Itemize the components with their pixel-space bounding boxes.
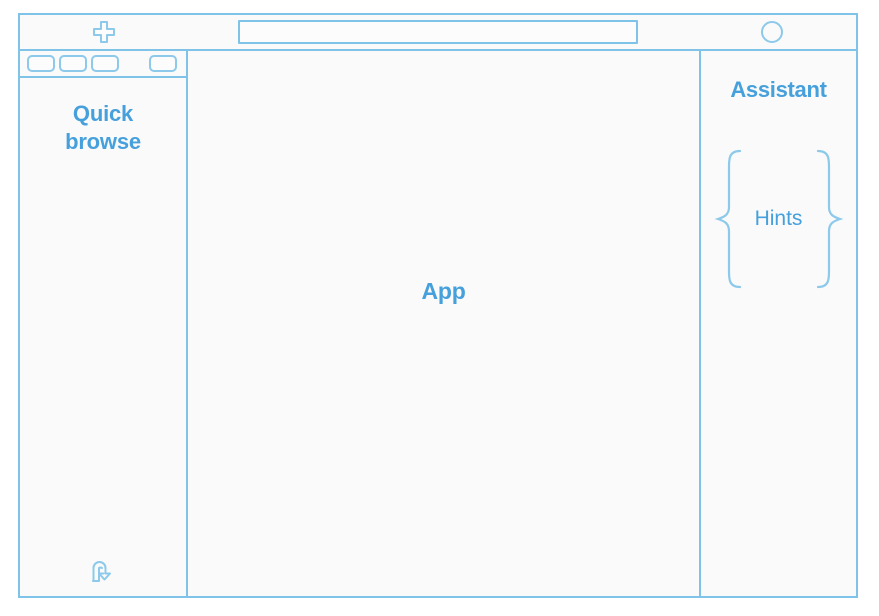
circle-avatar-icon[interactable] xyxy=(759,19,785,45)
toolbar-center-group xyxy=(188,15,688,49)
quick-browse-title: Quick browse xyxy=(20,100,186,155)
assistant-title: Assistant xyxy=(730,77,826,103)
sidebar-content: Quick browse xyxy=(20,78,186,596)
search-input[interactable] xyxy=(238,20,638,44)
assistant-panel: Assistant Hints xyxy=(701,51,856,596)
top-toolbar xyxy=(20,15,856,51)
hints-label: Hints xyxy=(755,207,803,231)
window-body: Quick browse App Assistant xyxy=(20,51,856,596)
sidebar: Quick browse xyxy=(20,51,188,596)
sidebar-item-tab-close[interactable] xyxy=(149,55,177,72)
sidebar-tab-row xyxy=(20,51,186,78)
sidebar-footer xyxy=(20,550,186,596)
plus-icon[interactable] xyxy=(91,19,117,45)
toolbar-left-group xyxy=(20,15,188,49)
app-area-label: App xyxy=(421,278,465,305)
toolbar-right-group xyxy=(688,15,856,49)
u-turn-arrow-icon[interactable] xyxy=(88,557,118,590)
sidebar-item-tab-1[interactable] xyxy=(27,55,55,72)
main-app-area[interactable]: App xyxy=(188,51,701,596)
app-window-frame: Quick browse App Assistant xyxy=(18,13,858,598)
sidebar-item-tab-2[interactable] xyxy=(59,55,87,72)
sidebar-item-tab-3[interactable] xyxy=(91,55,119,72)
hints-group: Hints xyxy=(710,147,848,291)
